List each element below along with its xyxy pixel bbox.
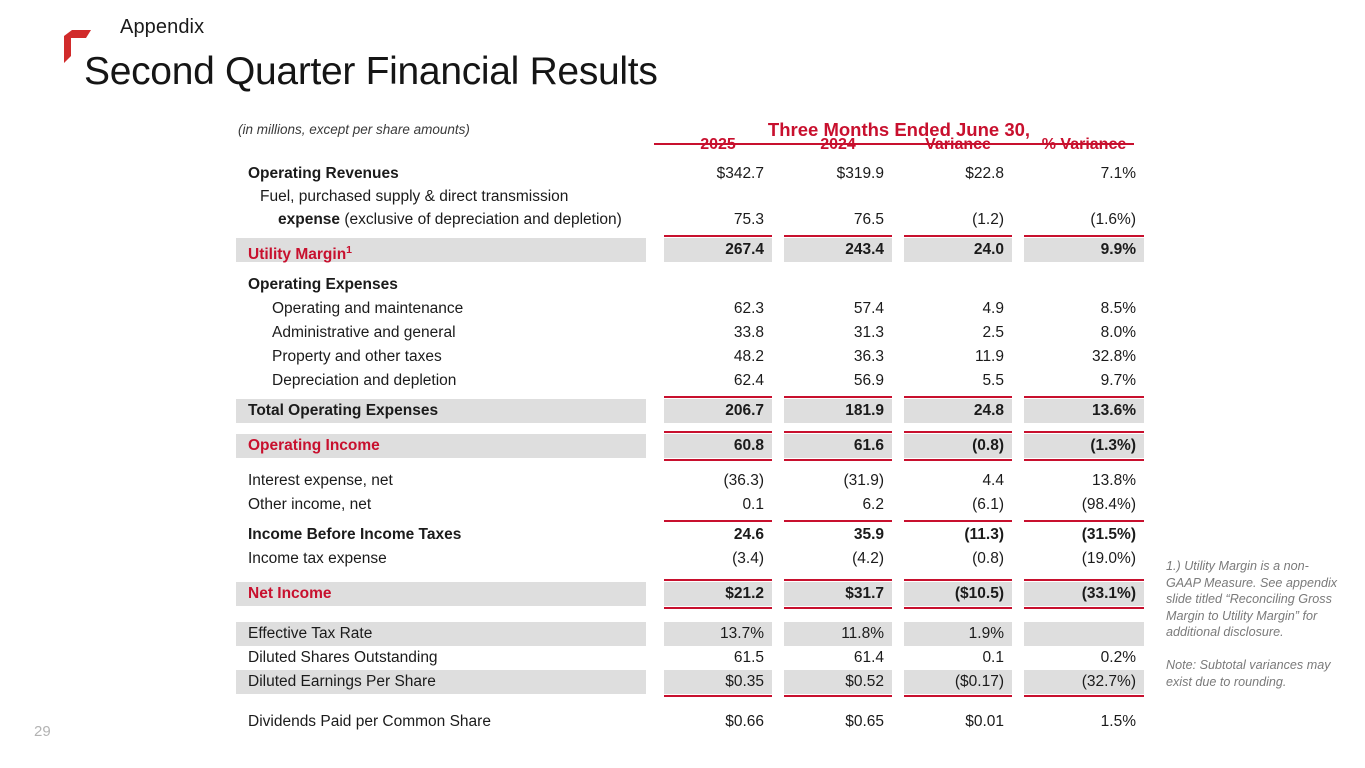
table-row: Operating and maintenance 62.3 57.4 4.9 …: [236, 297, 1144, 321]
row-value-cell: 6.2: [784, 493, 904, 517]
row-value: $22.8: [904, 162, 1012, 186]
row-value-cell: $0.52: [784, 670, 904, 694]
row-value: 0.1: [904, 646, 1012, 670]
row-label: Utility Margin1: [236, 238, 646, 262]
row-label: Operating Income: [236, 434, 646, 458]
table-row: Administrative and general 33.8 31.3 2.5…: [236, 321, 1144, 345]
row-label-cell: expense (exclusive of depreciation and d…: [236, 208, 664, 232]
table-row: Fuel, purchased supply & direct transmis…: [236, 186, 1144, 208]
row-label: Income tax expense: [236, 547, 646, 571]
row-value-cell: $22.8: [904, 162, 1024, 186]
row-label-cell: Utility Margin1: [236, 238, 664, 262]
row-value: 32.8%: [1024, 345, 1144, 369]
table-row-diluted-eps: Diluted Earnings Per Share $0.35 $0.52 (…: [236, 670, 1144, 694]
row-value: 61.6: [784, 434, 892, 458]
row-value: $342.7: [664, 162, 772, 186]
row-value: 7.1%: [1024, 162, 1144, 186]
table-row: Operating Revenues $342.7 $319.9 $22.8 7…: [236, 162, 1144, 186]
row-value-cell: 48.2: [664, 345, 784, 369]
row-value-cell: 181.9: [784, 399, 904, 423]
page-number: 29: [34, 723, 51, 740]
row-value-cell: (1.2): [904, 208, 1024, 232]
row-value-cell: (19.0%): [1024, 547, 1144, 571]
table-row: Depreciation and depletion 62.4 56.9 5.5…: [236, 369, 1144, 393]
table-row-total-operating-expenses: Total Operating Expenses 206.7 181.9 24.…: [236, 399, 1144, 423]
row-value-cell: $0.65: [784, 710, 904, 734]
row-label: Total Operating Expenses: [236, 399, 646, 423]
row-value: (0.8): [904, 434, 1012, 458]
row-value: $0.35: [664, 670, 772, 694]
row-value-cell: 56.9: [784, 369, 904, 393]
row-label: Dividends Paid per Common Share: [236, 710, 646, 734]
row-value-cell: 62.4: [664, 369, 784, 393]
row-value-cell: (0.8): [904, 547, 1024, 571]
row-value: (98.4%): [1024, 493, 1144, 517]
row-value-cell: $21.2: [664, 582, 784, 606]
row-value-cell: 32.8%: [1024, 345, 1144, 369]
row-value-cell: 9.9%: [1024, 238, 1144, 262]
row-label-cell: Diluted Shares Outstanding: [236, 646, 664, 670]
row-value: (33.1%): [1024, 582, 1144, 606]
row-label-cell: Income Before Income Taxes: [236, 523, 664, 547]
table-row-operating-income: Operating Income 60.8 61.6 (0.8) (1.3%): [236, 434, 1144, 458]
row-value: 5.5: [904, 369, 1012, 393]
row-value: 13.7%: [664, 622, 772, 646]
row-value: 24.8: [904, 399, 1012, 423]
row-value: 35.9: [784, 523, 892, 547]
row-label-cell: Net Income: [236, 582, 664, 606]
row-label-cell: Fuel, purchased supply & direct transmis…: [236, 186, 664, 208]
row-value-cell: 31.3: [784, 321, 904, 345]
row-value-cell: 0.2%: [1024, 646, 1144, 670]
row-value: (4.2): [784, 547, 892, 571]
row-value-cell: 8.5%: [1024, 297, 1144, 321]
row-value: 13.8%: [1024, 469, 1144, 493]
row-value: $31.7: [784, 582, 892, 606]
row-value: 13.6%: [1024, 399, 1144, 423]
column-header-label: % Variance: [1024, 134, 1144, 156]
row-value-cell: 24.6: [664, 523, 784, 547]
row-value-cell: (1.6%): [1024, 208, 1144, 232]
row-value: 6.2: [784, 493, 892, 517]
row-value: 11.8%: [784, 622, 892, 646]
row-value: 24.0: [904, 238, 1012, 262]
row-value: 9.9%: [1024, 238, 1144, 262]
row-value-cell: $0.01: [904, 710, 1024, 734]
footnote-rounding-note: Note: Subtotal variances may exist due t…: [1166, 657, 1342, 690]
row-value-cell: 243.4: [784, 238, 904, 262]
table-row: Dividends Paid per Common Share $0.66 $0…: [236, 710, 1144, 734]
table-row-income-before-taxes: Income Before Income Taxes 24.6 35.9 (11…: [236, 523, 1144, 547]
spacer-row: [236, 118, 1144, 134]
row-label: Other income, net: [236, 493, 646, 517]
row-value-cell: 33.8: [664, 321, 784, 345]
row-value: 36.3: [784, 345, 892, 369]
row-label-cell: Administrative and general: [236, 321, 664, 345]
row-value: 57.4: [784, 297, 892, 321]
row-value: 33.8: [664, 321, 772, 345]
row-value: (19.0%): [1024, 547, 1144, 571]
row-value-cell: 5.5: [904, 369, 1024, 393]
row-value: 48.2: [664, 345, 772, 369]
row-label-bold-part: expense: [278, 211, 340, 228]
row-label-cell: Operating Revenues: [236, 162, 664, 186]
row-value: 62.3: [664, 297, 772, 321]
row-value-cell: (31.9): [784, 469, 904, 493]
row-value: $0.66: [664, 710, 772, 734]
row-label-cell: Operating and maintenance: [236, 297, 664, 321]
row-value: 206.7: [664, 399, 772, 423]
row-value: ($10.5): [904, 582, 1012, 606]
table-row: Income tax expense (3.4) (4.2) (0.8) (19…: [236, 547, 1144, 571]
eyebrow-label: Appendix: [120, 16, 204, 39]
row-value: 56.9: [784, 369, 892, 393]
table-row: Interest expense, net (36.3) (31.9) 4.4 …: [236, 469, 1144, 493]
row-value: 76.5: [784, 208, 892, 232]
row-value-cell: (36.3): [664, 469, 784, 493]
row-label: Diluted Shares Outstanding: [236, 646, 646, 670]
row-label: Operating Expenses: [236, 273, 646, 297]
row-value-cell: (3.4): [664, 547, 784, 571]
row-value-cell: 267.4: [664, 238, 784, 262]
row-value-cell: (1.3%): [1024, 434, 1144, 458]
row-value: (31.5%): [1024, 523, 1144, 547]
row-value-cell: 61.5: [664, 646, 784, 670]
row-value: 61.4: [784, 646, 892, 670]
row-value: $0.65: [784, 710, 892, 734]
row-label: Depreciation and depletion: [236, 369, 646, 393]
row-value-cell: 61.4: [784, 646, 904, 670]
row-value-cell: 24.0: [904, 238, 1024, 262]
row-value: 1.5%: [1024, 710, 1144, 734]
row-value: 2.5: [904, 321, 1012, 345]
row-value: (1.2): [904, 208, 1012, 232]
row-value-cell: 8.0%: [1024, 321, 1144, 345]
table-row: Diluted Shares Outstanding 61.5 61.4 0.1…: [236, 646, 1144, 670]
row-value: 267.4: [664, 238, 772, 262]
row-value: 181.9: [784, 399, 892, 423]
row-label: Effective Tax Rate: [236, 622, 646, 646]
footnotes-block: 1.) Utility Margin is a non-GAAP Measure…: [1166, 558, 1342, 690]
row-value-cell: $0.35: [664, 670, 784, 694]
row-value-cell: (6.1): [904, 493, 1024, 517]
row-value-cell: 7.1%: [1024, 162, 1144, 186]
table-row-group-heading: Operating Expenses: [236, 273, 1144, 297]
row-label-rest: (exclusive of depreciation and depletion…: [340, 211, 622, 228]
row-value-cell: 206.7: [664, 399, 784, 423]
footnote-superscript: 1: [346, 244, 352, 256]
row-label: expense (exclusive of depreciation and d…: [236, 208, 646, 232]
row-value-cell: 75.3: [664, 208, 784, 232]
row-label: Operating and maintenance: [236, 297, 646, 321]
row-value-cell: 13.6%: [1024, 399, 1144, 423]
row-label-text: Utility Margin: [248, 246, 346, 263]
row-value: 61.5: [664, 646, 772, 670]
table-row: Property and other taxes 48.2 36.3 11.9 …: [236, 345, 1144, 369]
row-value-cell: 36.3: [784, 345, 904, 369]
row-value: 11.9: [904, 345, 1012, 369]
row-value: 4.4: [904, 469, 1012, 493]
column-header-label: Variance: [904, 134, 1012, 156]
row-label-cell: Interest expense, net: [236, 469, 664, 493]
column-header-percent-variance: % Variance: [1024, 134, 1144, 156]
row-value: 0.1: [664, 493, 772, 517]
row-value: 75.3: [664, 208, 772, 232]
row-value: 24.6: [664, 523, 772, 547]
row-value: 243.4: [784, 238, 892, 262]
table-row-net-income: Net Income $21.2 $31.7 ($10.5) (33.1%): [236, 582, 1144, 606]
footnote-utility-margin: 1.) Utility Margin is a non-GAAP Measure…: [1166, 558, 1342, 641]
row-label-cell: Effective Tax Rate: [236, 622, 664, 646]
row-value-cell: ($10.5): [904, 582, 1024, 606]
row-label-cell: Dividends Paid per Common Share: [236, 710, 664, 734]
row-value: 1.9%: [904, 622, 1012, 646]
row-value-cell: (98.4%): [1024, 493, 1144, 517]
row-value: $0.01: [904, 710, 1012, 734]
row-value: (1.6%): [1024, 208, 1144, 232]
table-row-effective-tax-rate: Effective Tax Rate 13.7% 11.8% 1.9%: [236, 622, 1144, 646]
row-value: 62.4: [664, 369, 772, 393]
row-label: Net Income: [236, 582, 646, 606]
row-value-cell: 35.9: [784, 523, 904, 547]
row-value: 60.8: [664, 434, 772, 458]
row-value-cell: 4.9: [904, 297, 1024, 321]
row-value: $319.9: [784, 162, 892, 186]
table-header-row: 2025 2024 Variance % Variance: [236, 134, 1144, 156]
row-value: $0.52: [784, 670, 892, 694]
table-row: Other income, net 0.1 6.2 (6.1) (98.4%): [236, 493, 1144, 517]
row-value-cell: (33.1%): [1024, 582, 1144, 606]
row-value-cell: 24.8: [904, 399, 1024, 423]
row-label-cell: Operating Expenses: [236, 273, 664, 297]
row-value: 31.3: [784, 321, 892, 345]
row-value: (32.7%): [1024, 670, 1144, 694]
row-value: (6.1): [904, 493, 1012, 517]
row-value: 0.2%: [1024, 646, 1144, 670]
row-label-cell: Total Operating Expenses: [236, 399, 664, 423]
row-value-cell: 61.6: [784, 434, 904, 458]
row-value-cell: 1.9%: [904, 622, 1024, 646]
row-value-cell: ($0.17): [904, 670, 1024, 694]
row-label: Interest expense, net: [236, 469, 646, 493]
table-row-utility-margin: Utility Margin1 267.4 243.4 24.0 9.9%: [236, 238, 1144, 262]
table-row: expense (exclusive of depreciation and d…: [236, 208, 1144, 232]
row-label-cell: Other income, net: [236, 493, 664, 517]
column-header-2024: 2024: [784, 134, 904, 156]
column-header-variance: Variance: [904, 134, 1024, 156]
row-value: (11.3): [904, 523, 1012, 547]
row-value: ($0.17): [904, 670, 1012, 694]
row-label-line1: Fuel, purchased supply & direct transmis…: [236, 186, 664, 208]
row-value-cell: (4.2): [784, 547, 904, 571]
row-value: 8.0%: [1024, 321, 1144, 345]
row-label-cell: Property and other taxes: [236, 345, 664, 369]
column-header-label: 2025: [664, 134, 772, 156]
row-label: Diluted Earnings Per Share: [236, 670, 646, 694]
row-value-cell: 62.3: [664, 297, 784, 321]
row-label: Property and other taxes: [236, 345, 646, 369]
row-value-cell-empty: [1024, 622, 1144, 646]
row-value: (3.4): [664, 547, 772, 571]
page-title: Second Quarter Financial Results: [84, 50, 658, 94]
row-label-cell: Operating Income: [236, 434, 664, 458]
row-label-cell: Diluted Earnings Per Share: [236, 670, 664, 694]
row-value: (31.9): [784, 469, 892, 493]
row-value-cell: 57.4: [784, 297, 904, 321]
row-label-cell: Depreciation and depletion: [236, 369, 664, 393]
header-blank-cell: [236, 134, 664, 156]
financial-table: 2025 2024 Variance % Variance Operating …: [236, 118, 1144, 734]
row-value-cell: 2.5: [904, 321, 1024, 345]
row-value-cell: (32.7%): [1024, 670, 1144, 694]
row-label: Income Before Income Taxes: [236, 523, 646, 547]
row-value: [1024, 622, 1144, 646]
row-value: 9.7%: [1024, 369, 1144, 393]
row-value-cell: 11.9: [904, 345, 1024, 369]
row-value-cell: 4.4: [904, 469, 1024, 493]
row-value-cell: 0.1: [664, 493, 784, 517]
row-value: 4.9: [904, 297, 1012, 321]
row-value-cell: 1.5%: [1024, 710, 1144, 734]
row-value-cell: (0.8): [904, 434, 1024, 458]
row-value: 8.5%: [1024, 297, 1144, 321]
row-label: Administrative and general: [236, 321, 646, 345]
column-header-2025: 2025: [664, 134, 784, 156]
row-value-cell: (31.5%): [1024, 523, 1144, 547]
row-value: (0.8): [904, 547, 1012, 571]
row-value-cell: 13.7%: [664, 622, 784, 646]
row-value-cell: 13.8%: [1024, 469, 1144, 493]
row-value: $21.2: [664, 582, 772, 606]
row-value-cell: $319.9: [784, 162, 904, 186]
row-value-cell: (11.3): [904, 523, 1024, 547]
row-label: Operating Revenues: [236, 162, 646, 186]
row-value-cell: 9.7%: [1024, 369, 1144, 393]
row-value-cell: 76.5: [784, 208, 904, 232]
row-value-cell: $31.7: [784, 582, 904, 606]
row-value-cell: $342.7: [664, 162, 784, 186]
slide-header: Appendix Second Quarter Financial Result…: [0, 0, 1365, 110]
row-value-cell: 11.8%: [784, 622, 904, 646]
row-value-cell: 60.8: [664, 434, 784, 458]
column-header-label: 2024: [784, 134, 892, 156]
row-value: (36.3): [664, 469, 772, 493]
row-value: (1.3%): [1024, 434, 1144, 458]
row-label-cell: Income tax expense: [236, 547, 664, 571]
row-value-cell: 0.1: [904, 646, 1024, 670]
row-value-cell: $0.66: [664, 710, 784, 734]
